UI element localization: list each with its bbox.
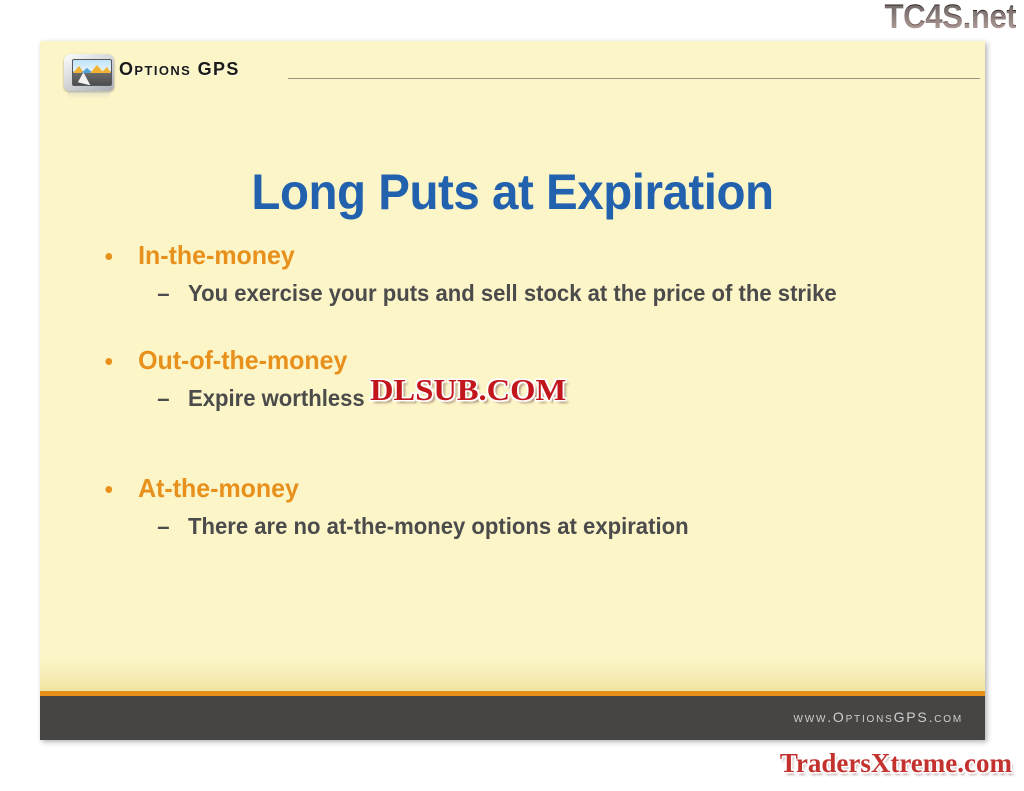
bullet-level1: In-the-money: [92, 241, 930, 271]
footer-website-url: www.OptionsGPS.com: [793, 709, 963, 725]
bullet-dot-icon: [105, 253, 112, 260]
bullet-level2-text: Expire worthless: [188, 385, 365, 411]
bullet-dot-icon: [105, 486, 112, 493]
bullet-level2-text: You exercise your puts and sell stock at…: [188, 280, 837, 306]
presentation-slide: Options GPS Long Puts at Expiration In-t…: [40, 41, 985, 740]
map-road-graphic: [78, 72, 93, 86]
bullet-group-at-the-money: At-the-money – There are no at-the-money…: [92, 474, 965, 541]
spacer: [92, 418, 965, 452]
gps-device-icon: [62, 54, 116, 96]
bullet-level1-label: At-the-money: [138, 473, 299, 503]
map-hills-graphic: [73, 64, 111, 73]
spacer: [92, 312, 965, 346]
dash-marker-icon: –: [157, 279, 169, 308]
bullet-level2: – You exercise your puts and sell stock …: [92, 279, 930, 308]
page-title: Long Puts at Expiration: [64, 163, 962, 221]
bullet-group-in-the-money: In-the-money – You exercise your puts an…: [92, 241, 965, 308]
logo-reflection: [68, 90, 110, 99]
gps-device-screen: [72, 59, 112, 86]
header-divider: [288, 78, 980, 79]
brand-name: Options GPS: [119, 59, 240, 80]
bullet-level1: At-the-money: [92, 474, 930, 504]
bullet-level1-label: In-the-money: [138, 240, 295, 270]
dash-marker-icon: –: [157, 384, 169, 413]
tc4s-watermark: TC4S.net: [884, 0, 1016, 37]
spacer: [92, 452, 965, 474]
bullet-level2: – There are no at-the-money options at e…: [92, 512, 930, 541]
bullet-level1-label: Out-of-the-money: [138, 345, 347, 375]
footer-gradient: [40, 656, 985, 692]
slide-footer: www.OptionsGPS.com: [40, 696, 985, 740]
tradersxtreme-watermark: TradersXtreme.com: [780, 748, 1012, 779]
bullet-dot-icon: [105, 358, 112, 365]
dash-marker-icon: –: [157, 512, 169, 541]
gps-device-body: [64, 54, 114, 91]
slide-header: Options GPS: [40, 41, 985, 103]
bullet-level2-text: There are no at-the-money options at exp…: [188, 513, 689, 539]
dlsub-watermark: DLSUB.COM: [370, 372, 566, 408]
